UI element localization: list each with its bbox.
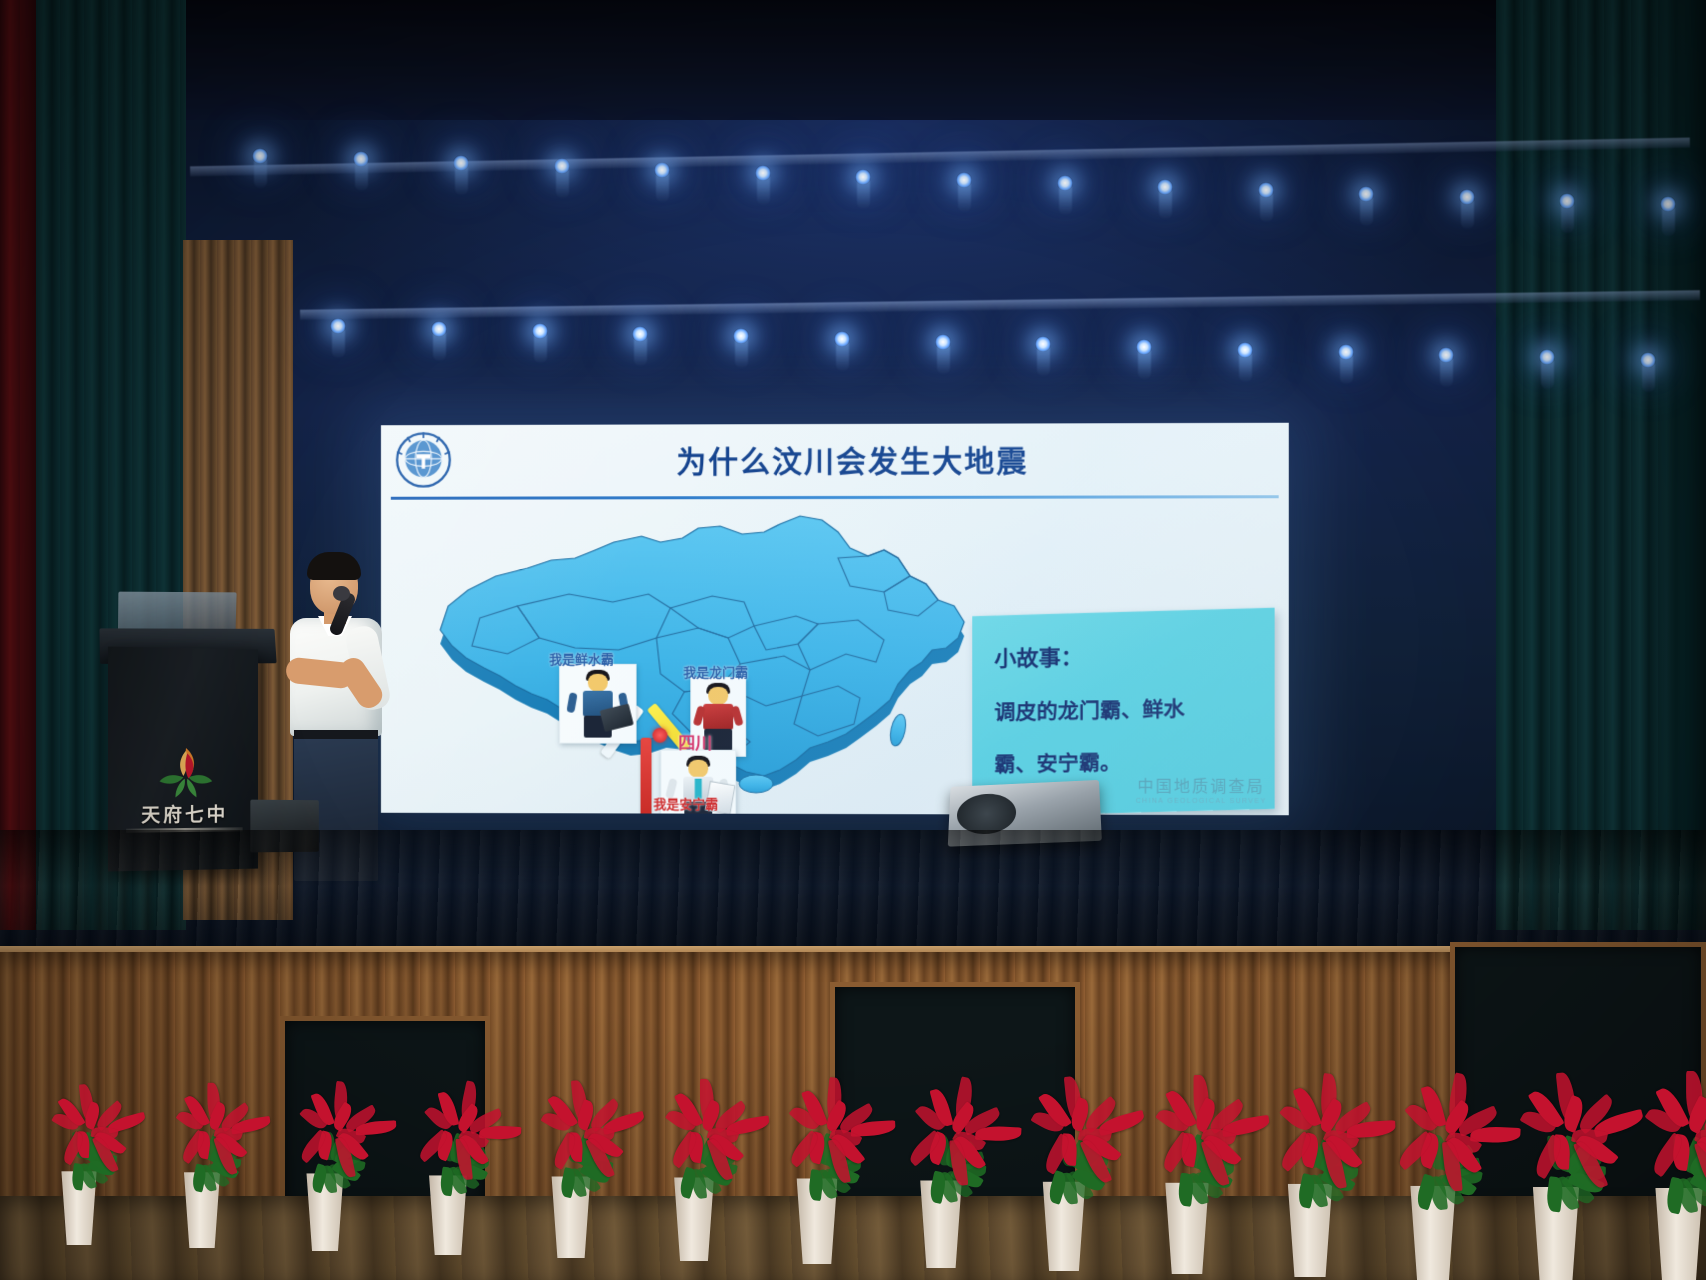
story-heading: 小故事： [994,629,1274,687]
stage-light-upper [554,158,570,174]
plant-leaf-green [1295,1173,1316,1209]
watermark-cn: 中国地质调查局 [1136,773,1267,797]
presentation-slide: 为什么汶川会发生大地震 [381,423,1289,815]
xianshui-figure [559,664,636,744]
label-longmen: 我是龙门霸 [683,662,748,681]
stage-light-upper [1258,182,1274,198]
poinsettia-plant [1488,1041,1625,1280]
slide-map-area: 我是鲜水霸 我是龙门霸 我是安宁霸 四川 小故事： 调皮的龙门霸、鲜水 霸、安宁… [381,501,1289,815]
anninghe-fault-line [641,738,652,816]
stage-light-upper [1157,179,1173,195]
poinsettia-plant [27,1060,131,1245]
stage-light-upper [453,155,469,171]
poinsettia-plant [879,1049,1002,1268]
poinsettia-plant [392,1055,504,1254]
poinsettia-plant [514,1054,629,1258]
stage-light-upper [353,151,369,167]
stage-light-upper [654,162,670,178]
story-line-2: 调皮的龙门霸、鲜水 [994,681,1274,739]
presenter-hair [307,552,361,580]
podium-label: 天府七中 [126,800,243,828]
ceiling-panel [0,0,1706,120]
stage-light-lower [834,331,850,347]
stage-light-lower [1338,344,1354,360]
poinsettia-plant [149,1059,256,1249]
china-geological-survey-emblem-icon [395,431,452,489]
poinsettia-plant [1609,1039,1706,1280]
figure-head [688,760,708,778]
figure-torso [703,704,733,730]
stage-light-upper [1660,196,1676,212]
stage-light-lower [1237,342,1253,358]
plant-leaf-green [71,1163,86,1191]
slide-watermark: 中国地质调查局 CHINA GEOLOGICAL SURVEY [1136,773,1267,805]
microphone-head [333,586,350,601]
stage-light-upper [252,148,268,164]
label-sichuan: 四川 [678,729,712,754]
speaker-grill [956,793,1016,836]
slide-title: 为什么汶川会发生大地震 [381,436,1289,482]
poinsettia-plant [1366,1042,1500,1280]
projection-screen: 为什么汶川会发生大地震 [381,423,1289,815]
watermark-en: CHINA GEOLOGICAL SURVEY [1136,798,1267,805]
plant-leaf-green [927,1170,947,1203]
stage-light-upper [1459,189,1475,205]
poinsettia-plant [1123,1046,1251,1274]
stage-light-upper [956,172,972,188]
label-anning: 我是安宁霸 [653,794,718,813]
figure-head [708,687,728,705]
school-emblem-icon [152,744,219,804]
epicenter-marker [652,728,667,743]
stage-light-lower [431,321,447,337]
figure-arm-left [566,692,577,713]
figure-head [588,674,608,692]
stage-light-upper [855,169,871,185]
plant-leaf-green [1176,1173,1194,1207]
auditorium-scene: 为什么汶川会发生大地震 [0,0,1706,1280]
poinsettia-plant [757,1050,877,1264]
plant-leaf-green [190,1163,207,1192]
stage-light-lower [1640,352,1656,368]
stage-light-upper [1057,175,1073,191]
slide-header: 为什么汶川会发生大地震 [381,423,1289,495]
poinsettia-plant [636,1052,753,1261]
stage-light-lower [935,334,951,350]
poinsettia-plant [1244,1044,1375,1277]
stage-light-upper [1358,186,1374,202]
poinsettia-plant [1001,1047,1127,1271]
stage-light-lower [1136,339,1152,355]
stage-light-upper [1559,193,1575,209]
stage-light-lower [330,318,346,334]
label-xianshui: 我是鲜水霸 [549,649,614,668]
stage-light-upper [755,165,771,181]
poinsettia-plant [270,1057,379,1251]
presenter-belt [294,730,378,739]
stage-light-lower [532,323,548,339]
